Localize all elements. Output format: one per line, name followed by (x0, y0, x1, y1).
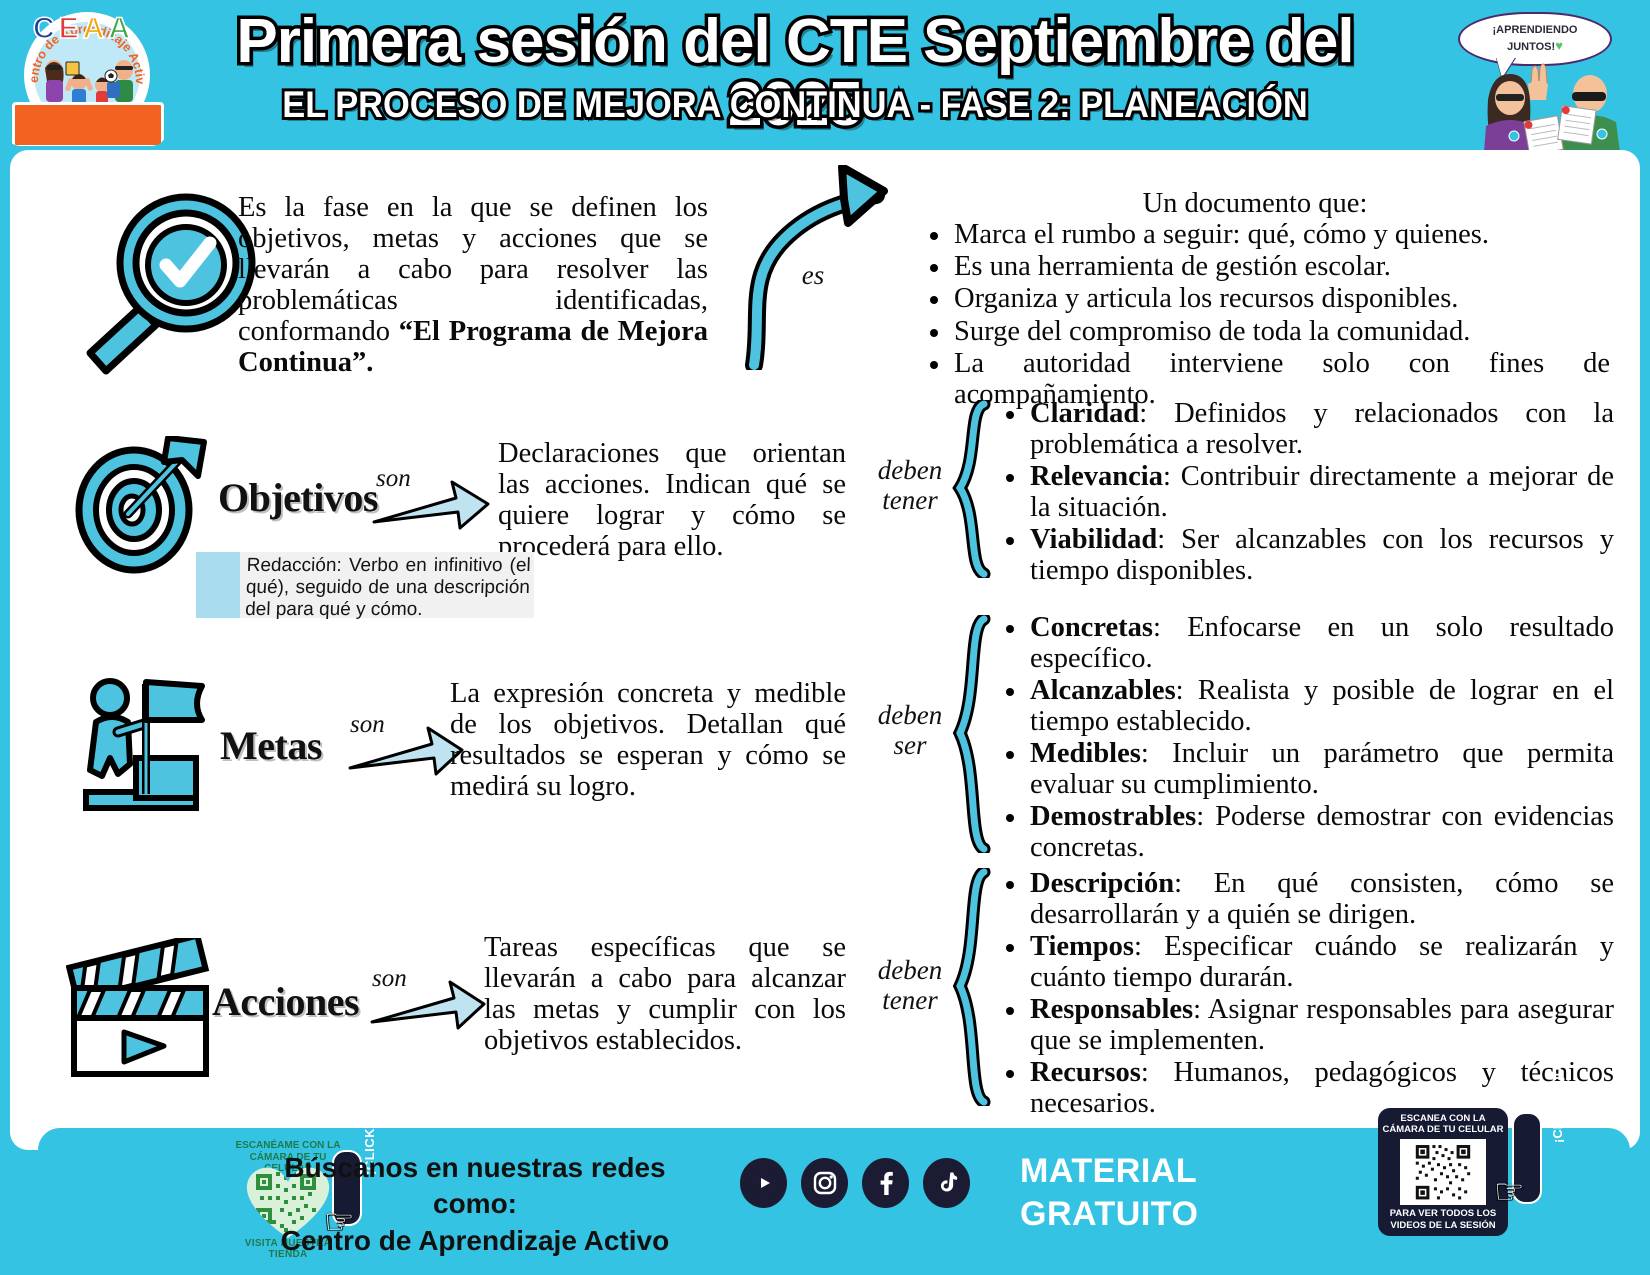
objetivos-bullet-list: Claridad: Definidos y relacionados con l… (976, 398, 1614, 586)
item-term: Recursos (1030, 1057, 1141, 1088)
list-item: Medibles: Incluir un parámetro que permi… (1006, 738, 1614, 800)
tiktok-icon[interactable] (923, 1158, 970, 1208)
intro-paragraph: Es la fase en la que se definen los obje… (238, 192, 708, 378)
section-items-objetivos: Claridad: Definidos y relacionados con l… (976, 398, 1614, 587)
list-item: Demostrables: Poderse demostrar con evid… (1006, 801, 1614, 863)
list-item: Descripción: En qué consisten, cómo se d… (1006, 868, 1614, 930)
connector-line-1: deben (878, 455, 942, 485)
connector-line-1: deben (878, 700, 942, 730)
note-accent-bar (196, 552, 240, 618)
connector-line-2: tener (882, 985, 937, 1015)
mascot-illustration: ¡APRENDIENDO JUNTOS!♥ (1434, 8, 1646, 148)
note-text: Redacción: Verbo en infinitivo (el qué),… (239, 552, 535, 618)
item-term: Claridad (1030, 398, 1139, 429)
header-bar: Centro de Aprendizaje Activo (0, 0, 1650, 148)
youtube-icon[interactable] (740, 1158, 787, 1208)
connector-line-1: deben (878, 955, 942, 985)
facebook-icon[interactable] (862, 1158, 909, 1208)
item-term: Alcanzables (1030, 675, 1176, 706)
section-items-metas: Concretas: Enfocarse en un solo resultad… (976, 612, 1614, 865)
section-desc-objetivos: Declaraciones que orientan las acciones.… (498, 438, 846, 562)
logo-letter-c: C (33, 12, 56, 46)
item-term: Medibles (1030, 738, 1141, 769)
section-desc-acciones: Tareas específicas que se llevarán a cab… (484, 932, 846, 1056)
item-term: Descripción (1030, 868, 1174, 899)
bubble-line-1: ¡APRENDIENDO (1493, 24, 1578, 38)
instagram-icon[interactable] (801, 1158, 848, 1208)
material-line-1: MATERIAL (1020, 1150, 1320, 1193)
list-item: Marca el rumbo a seguir: qué, cómo y qui… (930, 219, 1610, 250)
item-term: Concretas (1030, 612, 1153, 643)
person-flag-stairs-icon (76, 672, 226, 812)
section-desc-metas: La expresión concreta y medible de los o… (450, 678, 846, 802)
son-arrow-acciones: son (370, 960, 488, 1030)
list-item: Claridad: Definidos y relacionados con l… (1006, 398, 1614, 460)
qr-videos-caption-bottom: PARA VER TODOS LOS VIDEOS DE LA SESIÓN (1378, 1205, 1508, 1236)
material-gratuito-label: MATERIAL GRATUITO (1020, 1150, 1320, 1235)
list-item: Organiza y articula los recursos disponi… (930, 283, 1610, 314)
section-title-metas: Metas (220, 722, 322, 769)
item-term: Viabilidad (1030, 524, 1157, 555)
intro-right-heading: Un documento que: (900, 188, 1610, 219)
list-item: Es una herramienta de gestión escolar. (930, 251, 1610, 282)
connector-deben-tener-objetivos: deben tener (872, 455, 948, 515)
clapperboard-play-icon (66, 938, 236, 1078)
intro-right-block: Un documento que: Marca el rumbo a segui… (900, 188, 1610, 411)
section-items-acciones: Descripción: En qué consisten, cómo se d… (976, 868, 1614, 1121)
svg-text:son: son (350, 711, 385, 738)
svg-text:son: son (376, 465, 411, 492)
list-item: Tiempos: Especificar cuándo se realizará… (1006, 931, 1614, 993)
list-item: Relevancia: Contribuir directamente a me… (1006, 461, 1614, 523)
logo-letter-a2: A (108, 12, 131, 46)
section-title-acciones: Acciones (212, 978, 359, 1025)
son-arrow-metas: son (348, 706, 466, 776)
infographic-poster: Centro de Aprendizaje Activo (0, 0, 1650, 1275)
connector-deben-tener-acciones: deben tener (872, 955, 948, 1015)
social-prompt: Búscanos en nuestras redes como: Centro … (250, 1150, 700, 1259)
list-item: Concretas: Enfocarse en un solo resultad… (1006, 612, 1614, 674)
speech-bubble: ¡APRENDIENDO JUNTOS!♥ (1458, 12, 1612, 66)
social-prompt-line-2: Centro de Aprendizaje Activo (250, 1223, 700, 1259)
intro-bullet-list: Marca el rumbo a seguir: qué, cómo y qui… (900, 219, 1610, 409)
list-item: Alcanzables: Realista y posible de logra… (1006, 675, 1614, 737)
list-item: Viabilidad: Ser alcanzables con los recu… (1006, 524, 1614, 586)
ceaa-logo: Centro de Aprendizaje Activo (6, 6, 166, 146)
social-prompt-line-1: Búscanos en nuestras redes como: (250, 1150, 700, 1223)
list-item: Surge del compromiso de toda la comunida… (930, 316, 1610, 347)
material-line-2: GRATUITO (1020, 1193, 1320, 1236)
teachers-illustration (1468, 60, 1638, 152)
logo-letter-e: E (59, 12, 80, 46)
metas-bullet-list: Concretas: Enfocarse en un solo resultad… (976, 612, 1614, 864)
list-item: Responsables: Asignar responsables para … (1006, 994, 1614, 1056)
son-arrow-objetivos: son (372, 460, 492, 530)
connector-es: es (790, 260, 836, 290)
qr-videos-code[interactable] (1400, 1139, 1486, 1205)
connector-line-2: tener (882, 485, 937, 515)
acciones-bullet-list: Descripción: En qué consisten, cómo se d… (976, 868, 1614, 1120)
section-title-objetivos: Objetivos (218, 474, 378, 521)
pointing-hand-icon-2: ☞ (1494, 1176, 1524, 1210)
note-box-redaccion: Redacción: Verbo en infinitivo (el qué),… (196, 552, 534, 618)
click-aqui-label-2: ¡CLICK AQUÍ! (1545, 1057, 1571, 1145)
logo-acronym: C E A A (6, 6, 158, 52)
social-icons (740, 1158, 970, 1220)
connector-line-2: ser (894, 730, 927, 760)
item-term: Demostrables (1030, 801, 1196, 832)
qr-videos-block[interactable]: ESCANEA CON LA CÁMARA DE TU CELULAR (1378, 1108, 1508, 1236)
item-term: Responsables (1030, 994, 1193, 1025)
svg-text:son: son (372, 965, 407, 992)
logo-letter-a1: A (83, 12, 106, 46)
heart-icon: ♥ (1555, 38, 1563, 53)
item-term: Tiempos (1030, 931, 1134, 962)
connector-deben-ser-metas: deben ser (872, 700, 948, 760)
item-term: Relevancia (1030, 461, 1163, 492)
page-subtitle: EL PROCESO DE MEJORA CONTINUA - FASE 2: … (214, 86, 1377, 123)
qr-videos-caption-top: ESCANEA CON LA CÁMARA DE TU CELULAR (1378, 1108, 1508, 1139)
logo-ribbon (12, 102, 164, 146)
bubble-line-2: JUNTOS! (1507, 41, 1555, 53)
list-item: Recursos: Humanos, pedagógicos y técnico… (1006, 1057, 1614, 1119)
